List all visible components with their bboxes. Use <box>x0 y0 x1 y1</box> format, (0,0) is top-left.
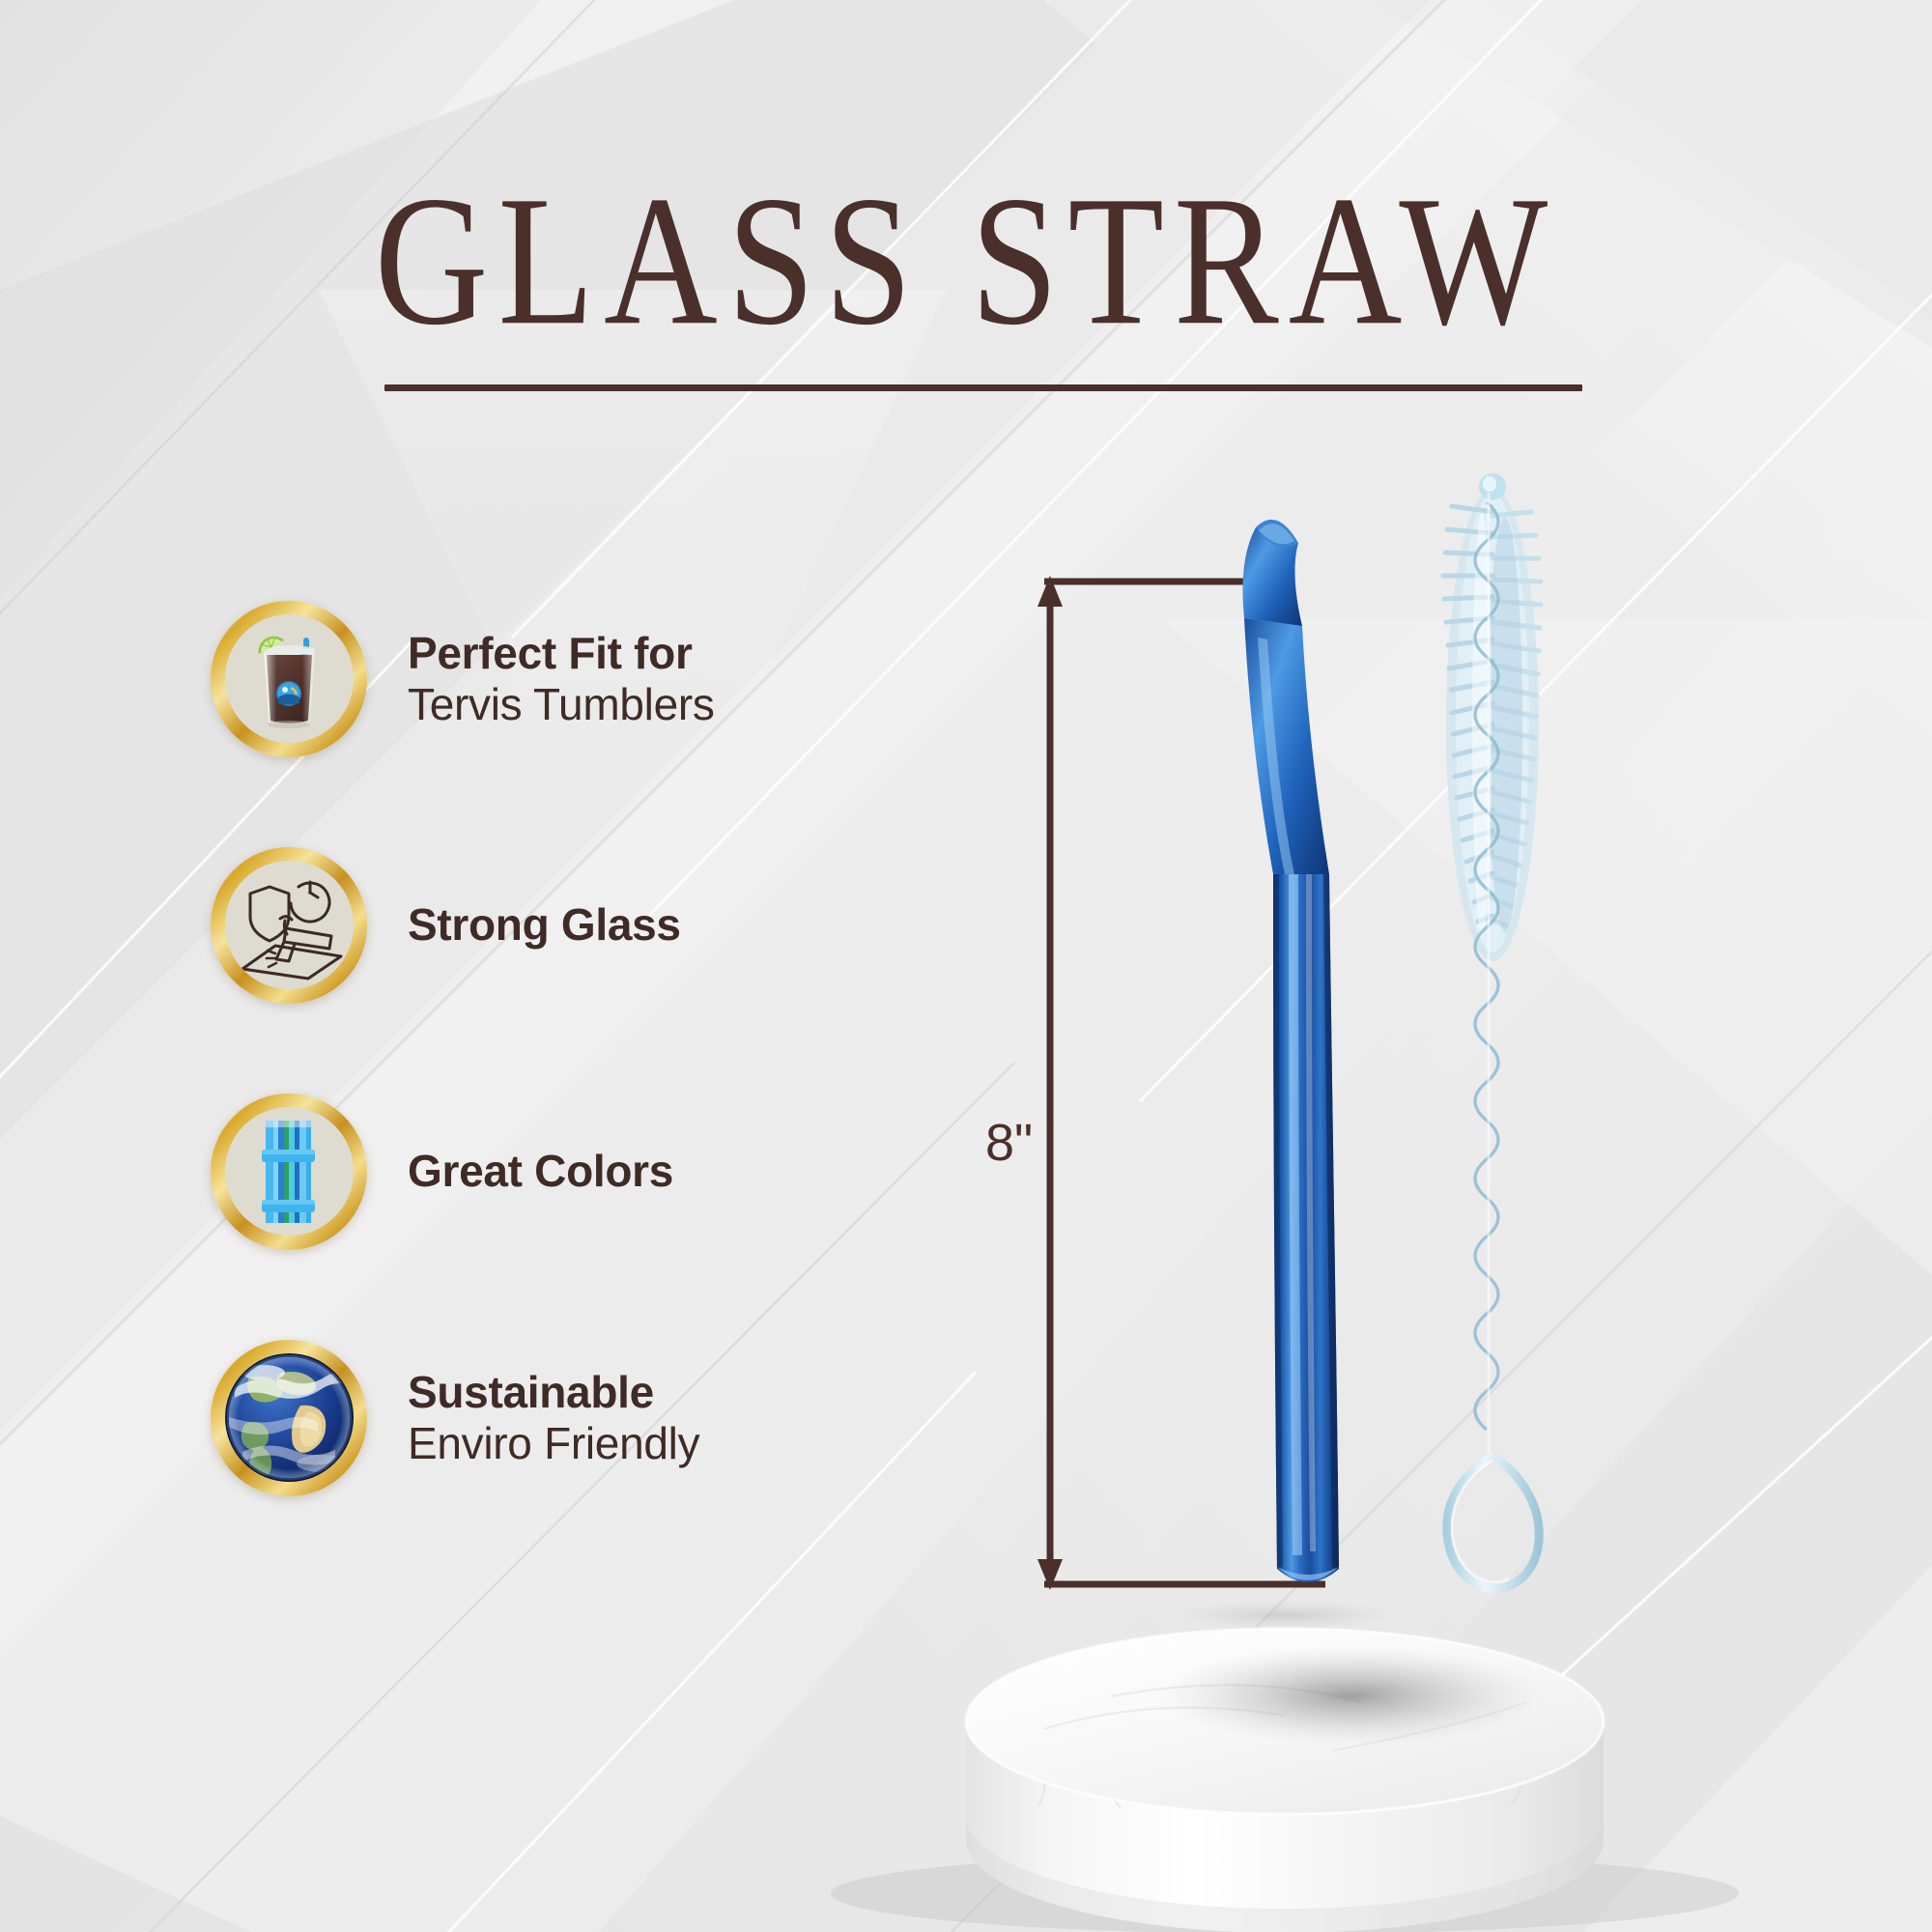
feature-item-sustainable: Sustainable Enviro Friendly <box>211 1333 887 1502</box>
feature-text: Sustainable Enviro Friendly <box>408 1367 699 1468</box>
shield-hammer-glass-icon <box>225 861 354 989</box>
drink-glass-icon <box>225 614 354 743</box>
feature-text: Perfect Fit for Tervis Tumblers <box>408 628 715 729</box>
feature-item-perfect-fit: Perfect Fit for Tervis Tumblers <box>211 594 887 763</box>
bent-glass-straw <box>1243 520 1340 1582</box>
title-underline-rule <box>384 384 1582 391</box>
feature-list: Perfect Fit for Tervis Tumblers <box>211 594 887 1579</box>
feature-badge-ring <box>211 1094 367 1250</box>
feature-title: Great Colors <box>408 1146 673 1196</box>
brush-loop-handle <box>1447 1457 1539 1589</box>
straw-floor-shadow <box>1169 1600 1401 1631</box>
feature-badge-ring <box>211 1340 367 1496</box>
dimension-label: 8" <box>985 1113 1033 1173</box>
cleaning-brush <box>1443 473 1541 1589</box>
feature-item-great-colors: Great Colors <box>211 1087 887 1256</box>
feature-subtitle: Tervis Tumblers <box>408 679 715 729</box>
header: GLASS STRAW <box>0 0 1932 454</box>
feature-text: Great Colors <box>408 1146 673 1196</box>
earth-globe-icon <box>225 1353 354 1482</box>
feature-title: Perfect Fit for <box>408 628 715 678</box>
feature-badge-ring <box>211 847 367 1004</box>
pedestal-cast-shadow <box>1159 1645 1546 1746</box>
feature-badge-ring <box>211 601 367 757</box>
feature-item-strong-glass: Strong Glass <box>211 840 887 1009</box>
marble-pedestal <box>831 1629 1739 1932</box>
feature-text: Strong Glass <box>408 899 681 950</box>
colored-straws-bundle-icon <box>225 1107 354 1236</box>
feature-subtitle: Enviro Friendly <box>408 1418 699 1468</box>
page-title: GLASS STRAW <box>0 169 1932 355</box>
feature-title: Sustainable <box>408 1367 699 1417</box>
feature-title: Strong Glass <box>408 899 681 950</box>
